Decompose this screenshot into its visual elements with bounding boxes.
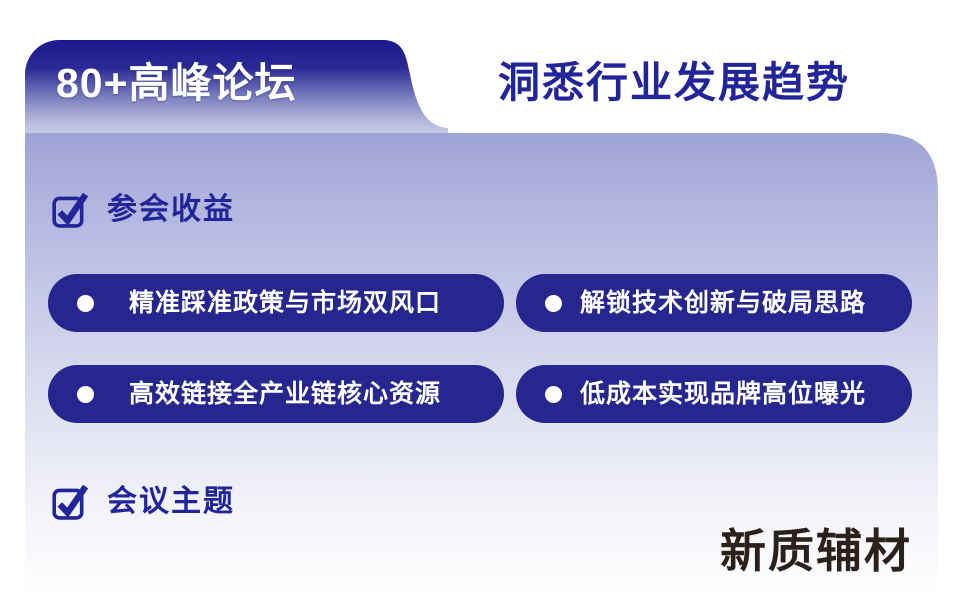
- forum-count-badge-label: 80+高峰论坛: [56, 63, 297, 104]
- benefit-pill-label: 低成本实现品牌高位曝光: [562, 382, 890, 407]
- checkbox-check-icon: [50, 482, 90, 522]
- poster-canvas: 80+高峰论坛 洞悉行业发展趋势 参会收益 精准踩准政策与市场双风口 解锁技术创…: [0, 0, 960, 600]
- benefit-pill[interactable]: 解锁技术创新与破局思路: [516, 274, 912, 332]
- benefit-pill[interactable]: 精准踩准政策与市场双风口: [48, 274, 504, 332]
- benefit-pill-label: 精准踩准政策与市场双风口: [94, 291, 482, 316]
- benefit-pill[interactable]: 低成本实现品牌高位曝光: [516, 365, 912, 423]
- section-heading-topic: 会议主题: [50, 482, 235, 522]
- dot-bullet-icon: [545, 386, 562, 403]
- dot-bullet-icon: [77, 386, 94, 403]
- checkbox-check-icon: [50, 190, 90, 230]
- section-title-topic: 会议主题: [107, 487, 235, 517]
- benefit-pill[interactable]: 高效链接全产业链核心资源: [48, 365, 504, 423]
- section-heading-benefits: 参会收益: [50, 190, 235, 230]
- benefit-pill-label: 高效链接全产业链核心资源: [94, 382, 482, 407]
- brand-wordmark: 新质辅材: [720, 528, 912, 574]
- dot-bullet-icon: [545, 295, 562, 312]
- section-title-benefits: 参会收益: [107, 195, 235, 225]
- dot-bullet-icon: [77, 295, 94, 312]
- benefit-pill-label: 解锁技术创新与破局思路: [562, 291, 890, 316]
- benefit-pill-grid: 精准踩准政策与市场双风口 解锁技术创新与破局思路 高效链接全产业链核心资源 低成…: [48, 274, 912, 423]
- header-tagline: 洞悉行业发展趋势: [498, 62, 850, 104]
